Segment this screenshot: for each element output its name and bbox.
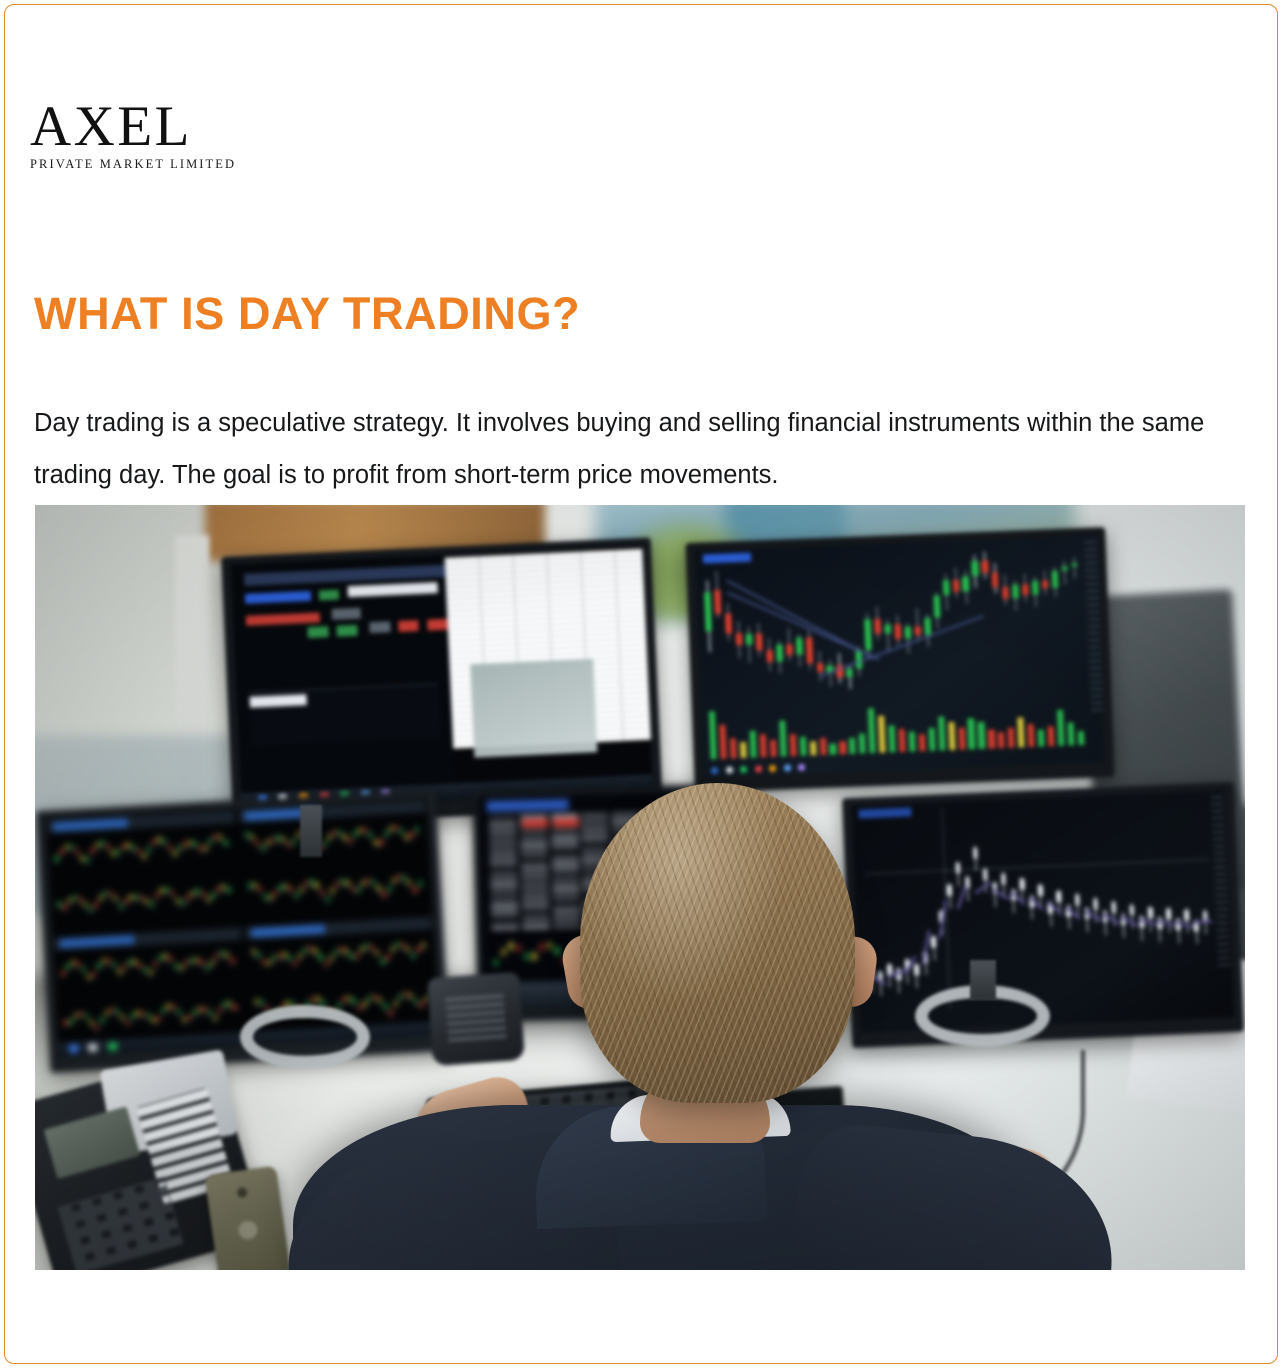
head-hair	[580, 783, 855, 1103]
suit-shoulder-right	[786, 1119, 1123, 1270]
brand-logo: AXEL PRIVATE MARKET LIMITED	[30, 100, 280, 172]
logo-tagline: PRIVATE MARKET LIMITED	[30, 157, 280, 172]
document-page: AXEL PRIVATE MARKET LIMITED WHAT IS DAY …	[4, 4, 1278, 1364]
logo-wordmark: AXEL	[30, 100, 280, 154]
hero-photo	[35, 505, 1245, 1270]
trader-person	[35, 505, 1245, 1270]
page-title: WHAT IS DAY TRADING?	[34, 288, 580, 340]
hair-texture	[580, 783, 855, 1103]
body-paragraph: Day trading is a speculative strategy. I…	[34, 397, 1266, 501]
